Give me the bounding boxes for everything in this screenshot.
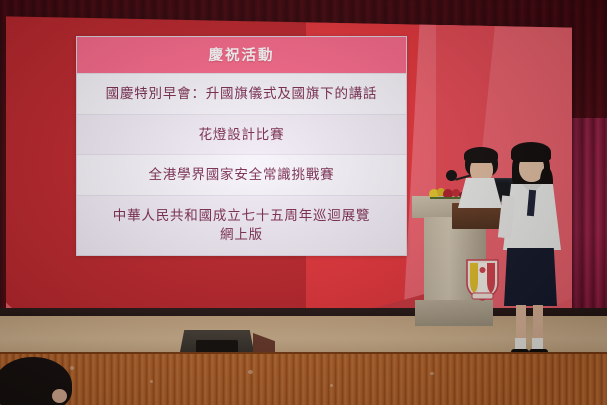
- student-right-hair-top: [511, 142, 551, 162]
- table-row: 花燈設計比賽: [77, 114, 406, 155]
- stage-photo: 慶祝活動 國慶特別早會：升國旗儀式及國旗下的講話 花燈設計比賽 全港學界國家安全…: [0, 0, 607, 405]
- student-left-hair-top: [464, 147, 498, 163]
- table-row: 中華人民共和國成立七十五周年巡迴展覽 網上版: [77, 195, 406, 255]
- stage-apron: [0, 352, 607, 405]
- school-crest-shield: [464, 257, 501, 302]
- table-row: 全港學界國家安全常識挑戰賽: [77, 154, 406, 195]
- slide-table: 慶祝活動 國慶特別早會：升國旗儀式及國旗下的講話 花燈設計比賽 全港學界國家安全…: [76, 36, 407, 256]
- slide-table-header: 慶祝活動: [77, 37, 406, 73]
- student-right-skirt: [504, 248, 557, 306]
- table-row: 國慶特別早會：升國旗儀式及國旗下的講話: [77, 73, 406, 114]
- audience-ear: [52, 389, 67, 403]
